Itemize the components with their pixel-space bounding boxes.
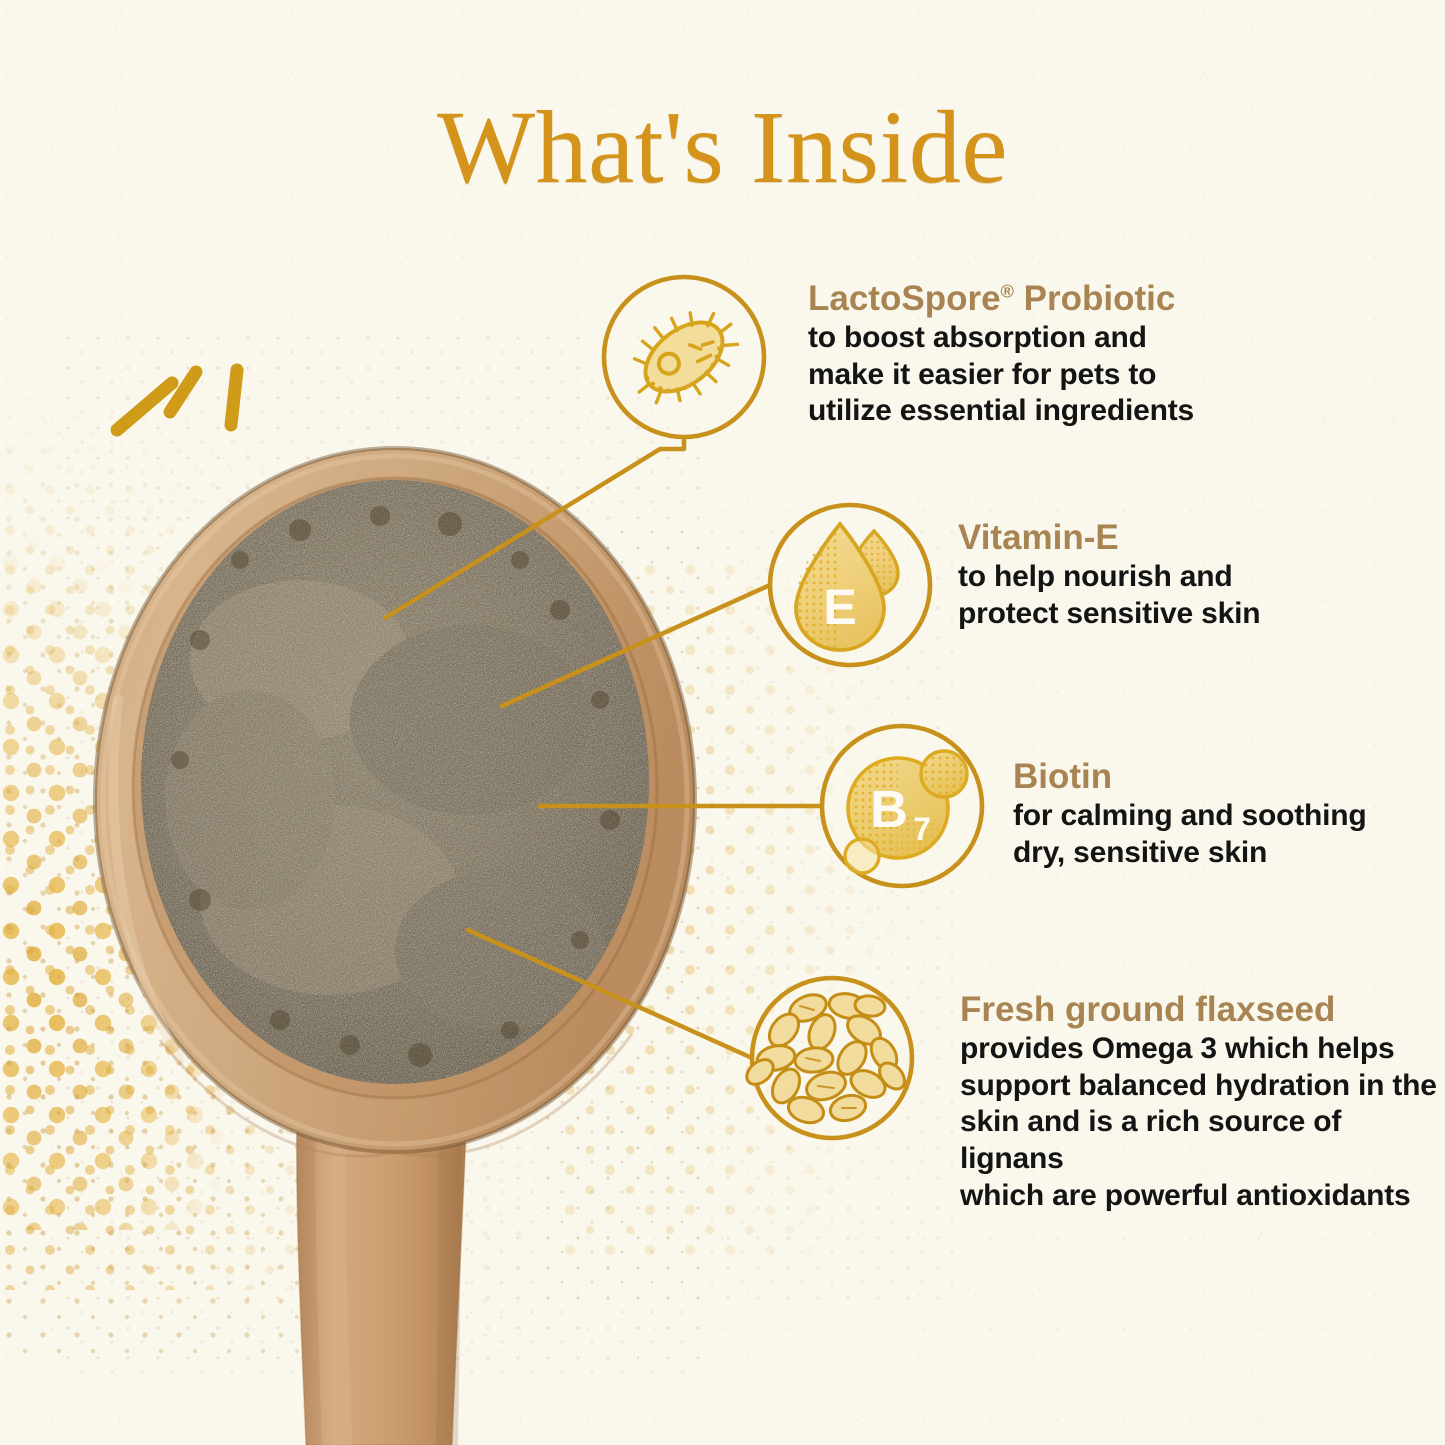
callout-probiotic: LactoSpore® Probiotic to boost absorptio… — [808, 279, 1194, 430]
callout-flaxseed: Fresh ground flaxseed provides Omega 3 w… — [960, 990, 1445, 1214]
callout-biotin-heading: Biotin — [1013, 757, 1367, 796]
b7-molecule-icon: B 7 — [822, 726, 982, 886]
oil-droplet-e-icon: E — [770, 505, 930, 665]
callout-flaxseed-heading: Fresh ground flaxseed — [960, 990, 1445, 1029]
callout-probiotic-heading: LactoSpore® Probiotic — [808, 279, 1194, 318]
callout-vitamin-e-body: to help nourish and protect sensitive sk… — [958, 559, 1260, 632]
infographic-canvas: What's Inside — [0, 0, 1445, 1445]
artwork-layer: E B 7 — [0, 0, 1445, 1445]
callout-vitamin-e-heading: Vitamin-E — [958, 518, 1260, 557]
callout-probiotic-body: to boost absorption and make it easier f… — [808, 320, 1194, 430]
callout-biotin-body: for calming and soothing dry, sensitive … — [1013, 798, 1367, 871]
svg-text:E: E — [823, 579, 856, 635]
callout-biotin: Biotin for calming and soothing dry, sen… — [1013, 757, 1367, 871]
callout-vitamin-e: Vitamin-E to help nourish and protect se… — [958, 518, 1260, 632]
svg-text:7: 7 — [913, 811, 931, 847]
bacteria-icon — [604, 277, 764, 437]
callout-flaxseed-body: provides Omega 3 which helps support bal… — [960, 1031, 1445, 1214]
svg-text:B: B — [870, 781, 908, 839]
